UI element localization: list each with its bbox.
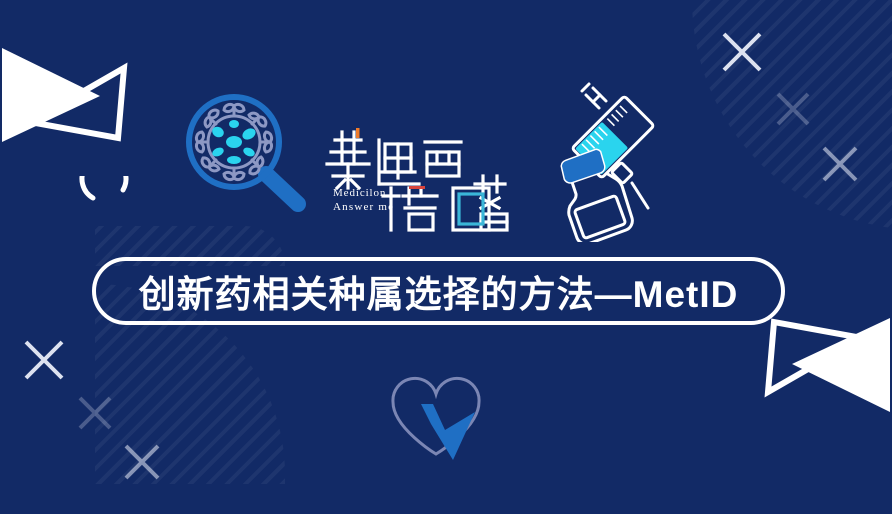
brand-en-text: Medicilon Answer me: [333, 186, 394, 214]
arc-icon: [76, 176, 138, 243]
x-mark-icon: [120, 440, 164, 484]
syringe-vial-icon: [552, 78, 676, 247]
title-pill: 创新药相关种属选择的方法—MetID: [92, 257, 785, 325]
x-mark-icon: [772, 88, 814, 130]
arrow-triangles-bottom-right-icon: [750, 318, 892, 446]
x-mark-icon: [718, 28, 766, 76]
arrow-triangles-top-left-icon: [0, 14, 142, 142]
banner-canvas: Medicilon Answer me 创新药相关种属选择的方法—MetID: [0, 0, 892, 514]
magnifier-virus-icon: [178, 88, 314, 223]
x-mark-icon: [20, 336, 68, 384]
x-mark-icon: [74, 392, 116, 434]
brand-tagline-en: Answer me: [333, 200, 394, 214]
page-title: 创新药相关种属选择的方法—MetID: [139, 264, 739, 318]
brand-name-en: Medicilon: [333, 186, 394, 200]
brand-logo: [325, 126, 515, 239]
heart-check-icon: [383, 372, 489, 465]
x-mark-icon: [818, 142, 862, 186]
